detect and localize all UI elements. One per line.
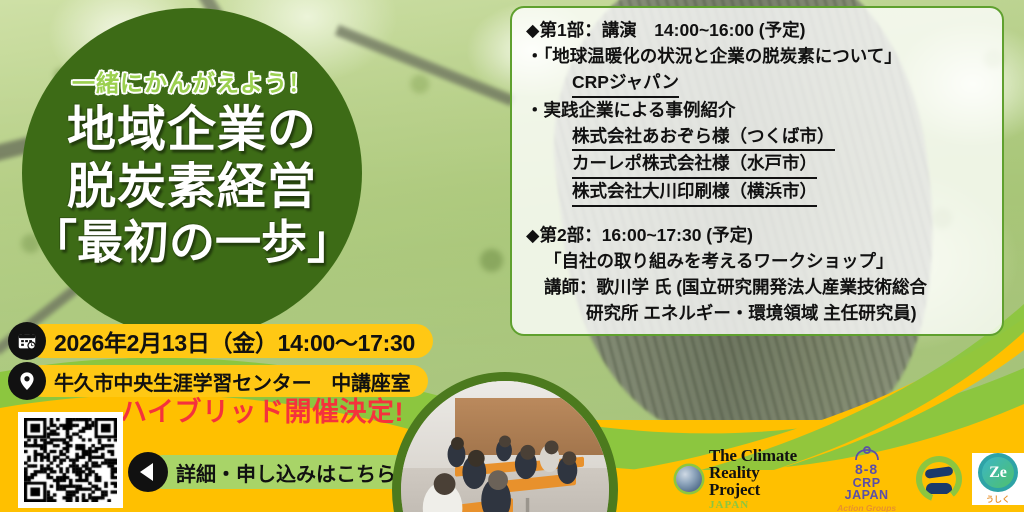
- poster-headline-line2: 脱炭素経営: [67, 159, 317, 216]
- poster-headline-line3: 「最初の一歩」: [31, 216, 353, 269]
- program-info-panel: ◆第1部：講演 14:00~16:00 (予定) ・「地球温暖化の状況と企業の脱…: [510, 6, 1004, 336]
- part2-title: 「自社の取り組みを考えるワークショップ」: [526, 249, 990, 275]
- part1-heading: ◆第1部：講演 14:00~16:00 (予定): [526, 18, 990, 44]
- panel-spacer: [526, 207, 990, 223]
- part2-heading: ◆第2部：16:00~17:30 (予定): [526, 223, 990, 249]
- ze-ushiku-logo: Ze うしく: [972, 453, 1024, 505]
- hybrid-notice: ハイブリッド開催決定!: [120, 390, 404, 429]
- part1-item1: ・「地球温暖化の状況と企業の脱炭素について」: [526, 44, 990, 70]
- qr-code[interactable]: [18, 412, 123, 508]
- apply-cta[interactable]: 詳細・申し込みはこちら: [128, 452, 416, 492]
- poster-subtitle: 一緒にかんがえよう！: [72, 64, 312, 98]
- seminar-room-photo: [392, 372, 618, 512]
- apply-cta-label[interactable]: 詳細・申し込みはこちら: [146, 455, 416, 489]
- case-company-1: 株式会社あおぞら様（つくば市）: [572, 124, 835, 152]
- tcr-line1: The Climate: [709, 447, 813, 464]
- ze-subtitle: うしく: [986, 494, 1010, 505]
- date-text: 2026年2月13日（金）14:00〜17:30: [26, 324, 433, 358]
- case-company-2: カーレポ株式会社様（水戸市）: [572, 151, 817, 179]
- sponsor-logos: The Climate Reality Project JAPAN 8-8 CR…: [672, 448, 1024, 510]
- crp-people-icon: [850, 446, 884, 462]
- part2-lecturer-line1: 講師：歌川学 氏 (国立研究開発法人産業技術総合: [526, 275, 990, 301]
- poster-headline-line1: 地域企業の: [67, 102, 317, 159]
- ze-mark: Ze: [978, 453, 1018, 492]
- globe-icon: [676, 466, 702, 492]
- tcr-line3: JAPAN: [709, 500, 813, 511]
- poster-root: 一緒にかんがえよう！ 地域企業の 脱炭素経営 「最初の一歩」 ◆第1部：講演 1…: [0, 0, 1024, 512]
- crp-mark: 8-8: [829, 462, 904, 476]
- handshake-icon: [916, 456, 962, 502]
- part1-item1-speaker: CRPジャパン: [572, 70, 679, 98]
- date-badge: 2026年2月13日（金）14:00〜17:30: [8, 322, 433, 360]
- part2-lecturer-line2: 研究所 エネルギー・環境領域 主任研究員): [526, 301, 990, 327]
- tcr-line2: Reality Project: [709, 464, 813, 498]
- the-climate-reality-project-japan: The Climate Reality Project JAPAN: [676, 447, 813, 511]
- case-company-3: 株式会社大川印刷様（横浜市）: [572, 179, 817, 207]
- crp-japan-action-groups: 8-8 CRP JAPAN Action Groups: [829, 446, 904, 512]
- title-circle: 一緒にかんがえよう！ 地域企業の 脱炭素経営 「最初の一歩」: [22, 8, 362, 338]
- map-pin-icon: [8, 362, 46, 400]
- calendar-icon: [8, 322, 46, 360]
- crp-name: CRP JAPAN: [829, 477, 904, 502]
- play-triangle-icon[interactable]: [128, 452, 168, 492]
- crp-subtitle: Action Groups: [829, 504, 904, 512]
- part1-item2: ・実践企業による事例紹介: [526, 98, 990, 124]
